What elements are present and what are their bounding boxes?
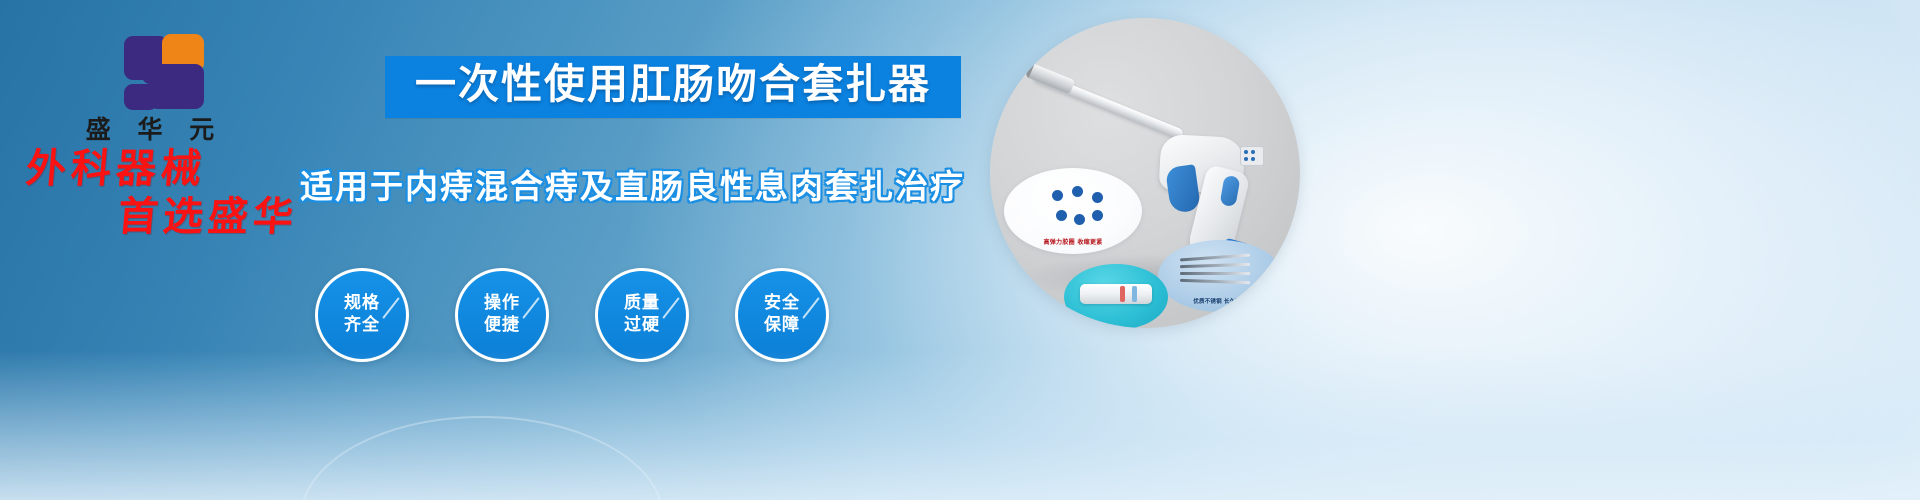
main-title-bar: 一次性使用肛肠吻合套扎器	[385, 56, 961, 118]
feature-badge-line2: 齐全	[344, 315, 380, 337]
feature-badge-line1: 安全	[764, 293, 800, 315]
feature-badge-line1: 质量	[624, 293, 660, 315]
decorative-arc	[300, 416, 664, 500]
feature-badge-safety[interactable]: 安全 保障	[735, 268, 829, 362]
calligraphy-slogan: 外科器械 首选盛华	[18, 148, 348, 238]
feature-badge-operation[interactable]: 操作 便捷	[455, 268, 549, 362]
badge-gloss-icon	[662, 297, 680, 319]
inset-caption-needles: 优质不锈钢 长久耐用	[1168, 297, 1272, 305]
inset-ligation-rings: 高弹力胶圈 收缩更紧	[1004, 168, 1142, 254]
device-control-panel	[1240, 146, 1264, 166]
brand-logo[interactable]: 盛 华 元	[60, 28, 240, 146]
brand-name: 盛 华 元	[60, 110, 240, 146]
subtitle-text: 适用于内痔混合痔及直肠良性息肉套扎治疗	[300, 160, 920, 208]
promotional-banner: 盛 华 元 外科器械 首选盛华 一次性使用肛肠吻合套扎器 适用于内痔混合痔及直肠…	[0, 0, 1920, 500]
main-title-text: 一次性使用肛肠吻合套扎器	[415, 62, 931, 108]
feature-badge-quality[interactable]: 质量 过硬	[595, 268, 689, 362]
cartridge-icon	[1080, 284, 1152, 304]
inset-cartridge	[1064, 264, 1168, 328]
badge-gloss-icon	[522, 297, 540, 319]
feature-badge-specifications[interactable]: 规格 齐全	[315, 268, 409, 362]
bottom-fade-overlay	[0, 350, 1920, 500]
feature-badge-line1: 规格	[344, 293, 380, 315]
inset-caption-rings: 高弹力胶圈 收缩更紧	[1022, 237, 1124, 246]
product-photo[interactable]: 高弹力胶圈 收缩更紧 优质不锈钢 长久耐用	[990, 18, 1300, 328]
badge-gloss-icon	[802, 297, 820, 319]
feature-badge-line2: 便捷	[484, 315, 520, 337]
logo-blocks-icon	[102, 28, 198, 104]
feature-badge-line2: 保障	[764, 315, 800, 337]
feature-badge-line1: 操作	[484, 293, 520, 315]
device-tip	[1025, 63, 1075, 95]
feature-badge-line2: 过硬	[624, 315, 660, 337]
feature-badge-list: 规格 齐全 操作 便捷 质量 过硬 安全 保障	[315, 268, 829, 362]
inset-needles: 优质不锈钢 长久耐用	[1158, 240, 1282, 312]
device-trigger	[1165, 164, 1201, 214]
badge-gloss-icon	[382, 297, 400, 319]
